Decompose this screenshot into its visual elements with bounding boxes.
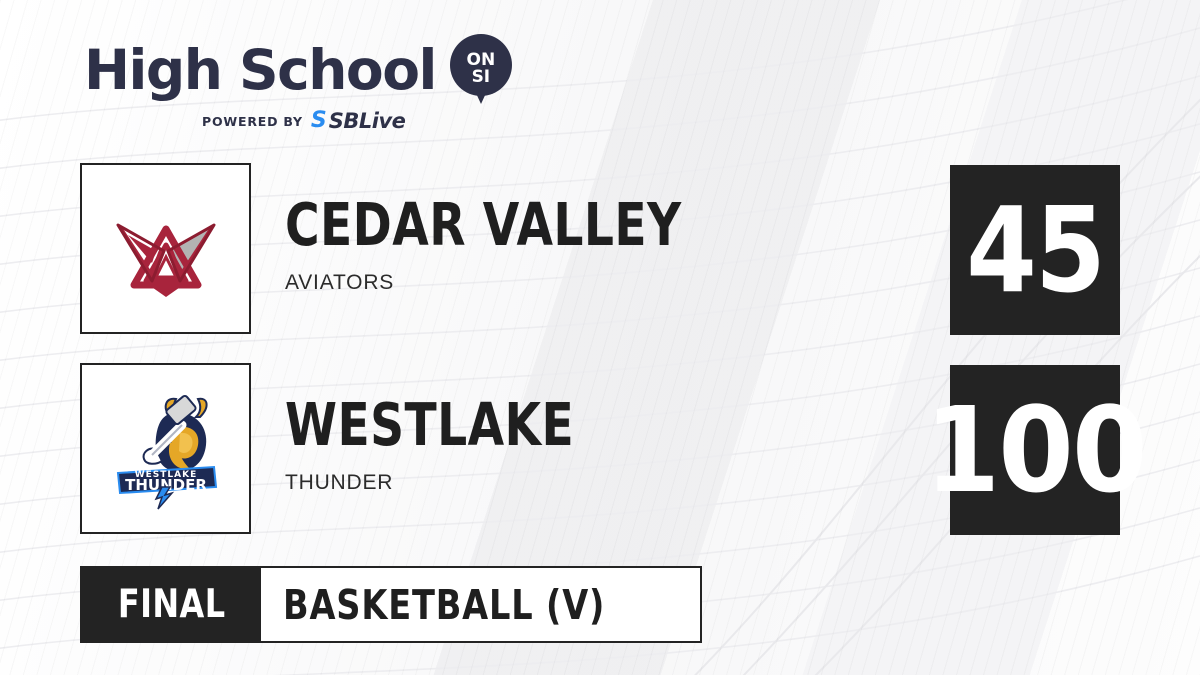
game-status-label: FINAL [118,585,226,625]
team-mascot: AVIATORS [285,271,925,295]
team-info: WESTLAKE THUNDER [285,395,925,495]
game-status-chip: FINAL [82,568,261,641]
on-si-pin-icon: ON SI [450,34,512,106]
brand-wordmark: High School [84,41,436,99]
team-score: 100 [924,391,1145,509]
team-info: CEDAR VALLEY AVIATORS [285,195,925,295]
team-score-box: 100 [950,365,1120,535]
team-name: WESTLAKE [285,395,797,455]
brand-wordmark-row: High School ON SI [84,34,504,106]
team-logo-box [80,163,251,334]
brand-header: High School ON SI POWERED BY S SBLive [84,34,504,132]
team-score-box: 45 [950,165,1120,335]
game-sport-label: BASKETBALL (V) [283,584,605,626]
sblive-wordmark: SBLive [329,110,406,132]
sblive-mark-icon: S [311,110,326,132]
sblive-logo: S SBLive [311,110,406,132]
pin-label-group: ON SI [450,34,512,106]
pin-label-si: SI [472,69,491,85]
cedar-valley-aviators-logo [106,189,226,309]
team-name: CEDAR VALLEY [285,195,797,255]
game-status-bar: FINAL BASKETBALL (V) [80,566,702,643]
team-mascot: THUNDER [285,471,925,495]
game-sport-chip: BASKETBALL (V) [261,568,700,641]
westlake-thunder-logo: WESTLAKE THUNDER [104,387,228,511]
team-logo-box: WESTLAKE THUNDER [80,363,251,534]
powered-by-label: POWERED BY [202,114,303,129]
score-graphic: High School ON SI POWERED BY S SBLive [0,0,1200,675]
powered-by-row: POWERED BY S SBLive [202,110,504,132]
pin-label-on: ON [467,52,496,68]
team-score: 45 [966,191,1104,309]
